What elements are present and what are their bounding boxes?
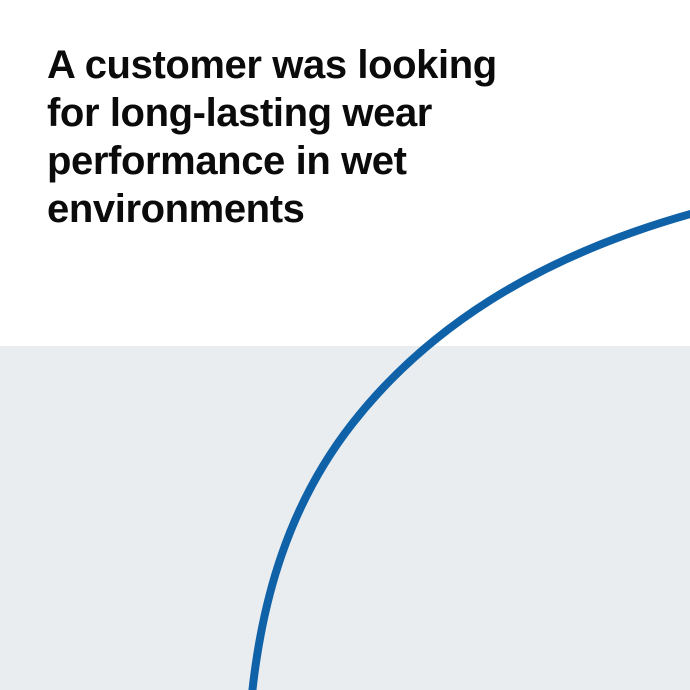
background-band-gray — [0, 346, 690, 690]
slide-canvas: A customer was looking for long-lasting … — [0, 0, 690, 690]
page-title: A customer was looking for long-lasting … — [47, 41, 547, 233]
